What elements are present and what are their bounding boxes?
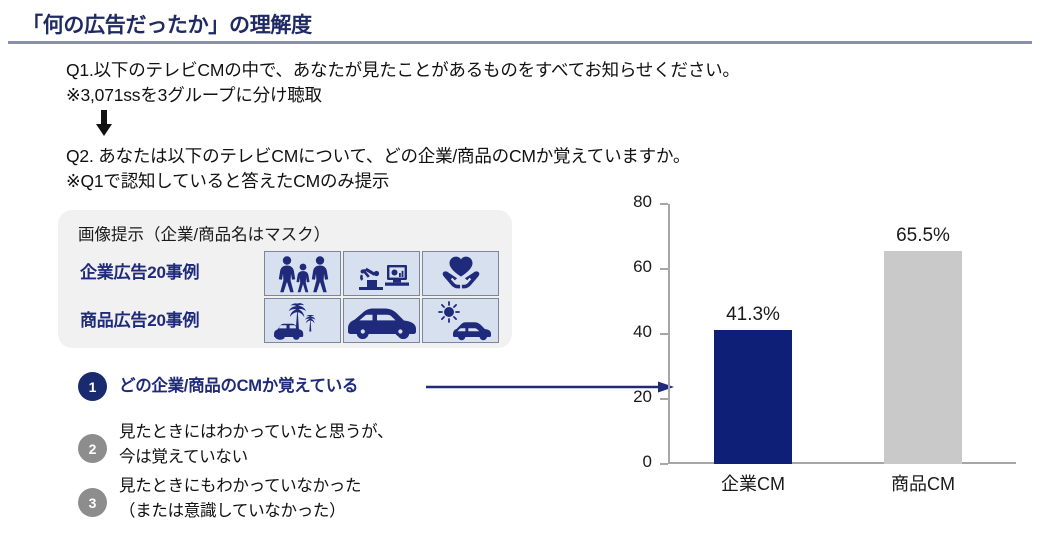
option-label-1: どの企業/商品のCMか覚えている xyxy=(119,374,358,399)
option-badge-2: 2 xyxy=(78,434,107,463)
question-1-note: ※3,071ssを3グループに分け聴取 xyxy=(66,83,786,108)
chart-y-tick: 40 xyxy=(660,333,668,335)
chart-bar: 65.5% xyxy=(884,251,962,464)
chart-bar-value-label: 41.3% xyxy=(726,304,780,326)
question-2-block: Q2. あなたは以下のテレビCMについて、どの企業/商品のCMか覚えていますか。… xyxy=(66,144,690,194)
chart-y-tick-label: 60 xyxy=(633,257,652,277)
chart-plot-area: 41.3%65.5% xyxy=(668,204,1008,464)
panel-label-corporate-ads: 企業広告20事例 xyxy=(80,258,199,283)
ad-thumbnail-tile xyxy=(422,251,499,296)
bar-chart: 020406080 41.3%65.5% 企業CM商品CM xyxy=(618,196,1018,496)
option-label-3: 見たときにもわかっていなかった （または意識していなかった） xyxy=(119,474,361,524)
chart-y-tick-label: 20 xyxy=(633,387,652,407)
question-2-text: Q2. あなたは以下のテレビCMについて、どの企業/商品のCMか覚えていますか。 xyxy=(66,144,690,169)
heart-in-hands-icon xyxy=(436,255,486,293)
option-item-1[interactable]: 1 どの企業/商品のCMか覚えている xyxy=(78,372,358,401)
option-label-2-line2: 今は覚えていない xyxy=(119,445,393,470)
chart-y-tick: 80 xyxy=(660,203,668,205)
option-label-3-line2: （または意識していなかった） xyxy=(119,499,361,524)
option-item-3[interactable]: 3 見たときにもわかっていなかった （または意識していなかった） xyxy=(78,474,361,524)
page-title: 「何の広告だったか」の理解度 xyxy=(22,9,312,39)
family-walking-icon xyxy=(274,255,332,293)
chart-y-tick: 60 xyxy=(660,268,668,270)
car-side-icon xyxy=(346,303,418,339)
title-divider xyxy=(8,41,1032,44)
option-label-3-line1: 見たときにもわかっていなかった xyxy=(119,474,361,499)
chart-bar: 41.3% xyxy=(714,330,792,464)
option-label-2-line1: 見たときにはわかっていたと思うが、 xyxy=(119,420,393,445)
chart-y-tick-label: 0 xyxy=(643,452,652,472)
chart-bar-value-label: 65.5% xyxy=(896,225,950,247)
down-arrow-icon xyxy=(96,110,112,136)
ad-thumbnail-tile xyxy=(422,298,499,343)
option-label-2: 見たときにはわかっていたと思うが、 今は覚えていない xyxy=(119,420,393,470)
chart-y-tick-label: 80 xyxy=(633,192,652,212)
robot-arm-monitor-icon xyxy=(349,256,415,292)
panel-label-product-ads: 商品広告20事例 xyxy=(80,306,199,331)
chart-y-tick: 20 xyxy=(660,398,668,400)
sun-car-icon xyxy=(429,301,493,341)
option-item-2[interactable]: 2 見たときにはわかっていたと思うが、 今は覚えていない xyxy=(78,420,393,470)
question-2-note: ※Q1で認知していると答えたCMのみ提示 xyxy=(66,169,690,194)
ad-thumbnail-grid xyxy=(264,251,499,343)
ad-thumbnail-tile xyxy=(264,298,341,343)
chart-y-tick: 0 xyxy=(660,463,668,465)
panel-heading: 画像提示（企業/商品名はマスク） xyxy=(78,221,330,245)
ad-thumbnail-tile xyxy=(264,251,341,296)
question-1-text: Q1.以下のテレビCMの中で、あなたが見たことがあるものをすべてお知らせください… xyxy=(66,58,786,83)
option-badge-1: 1 xyxy=(78,372,107,401)
chart-category-label: 企業CM xyxy=(721,470,785,496)
ad-thumbnail-tile xyxy=(343,298,420,343)
chart-category-label: 商品CM xyxy=(891,470,955,496)
option-badge-3: 3 xyxy=(78,488,107,517)
question-block: Q1.以下のテレビCMの中で、あなたが見たことがあるものをすべてお知らせください… xyxy=(66,58,786,108)
car-palm-tree-icon xyxy=(269,301,337,341)
ad-thumbnail-tile xyxy=(343,251,420,296)
image-presentation-panel: 画像提示（企業/商品名はマスク） 企業広告20事例 商品広告20事例 xyxy=(58,210,512,348)
chart-y-tick-label: 40 xyxy=(633,322,652,342)
